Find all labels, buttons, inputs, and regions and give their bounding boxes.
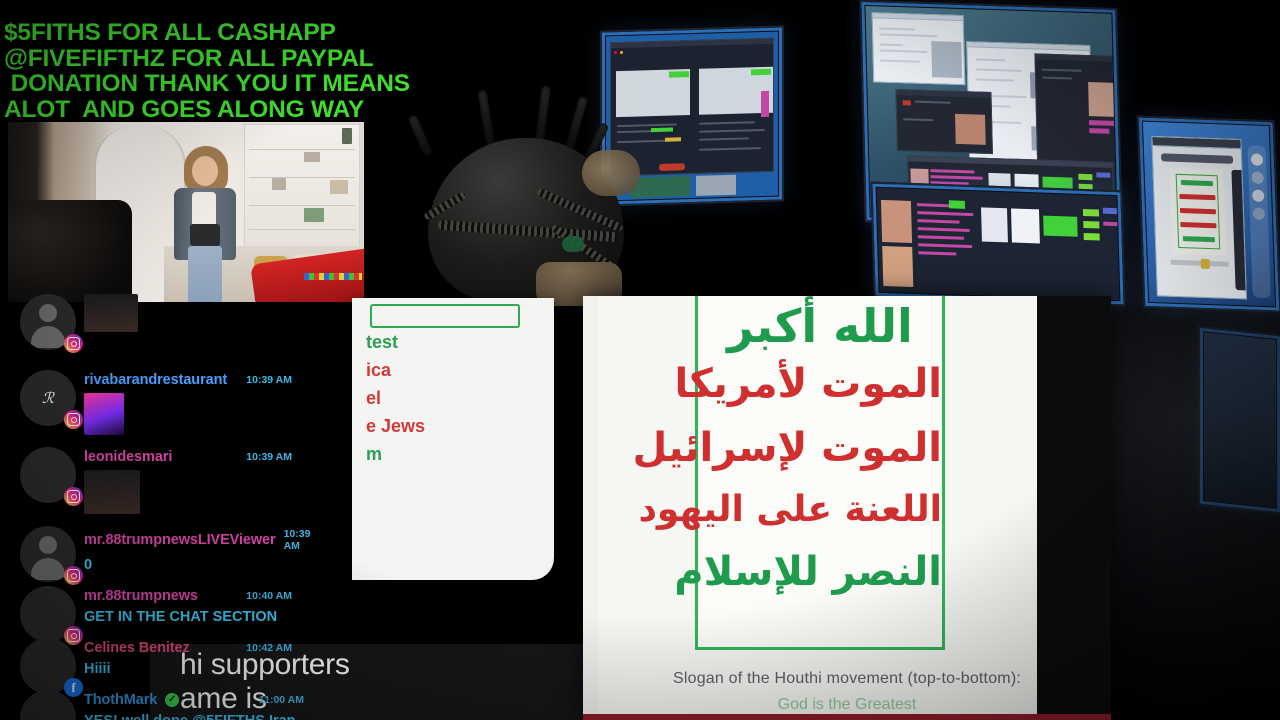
slogan-caption: Slogan of the Houthi movement (top-to-bo… [583,670,1111,714]
slogan-panel-right-margin [1037,296,1111,720]
arabic-line-5: النصر للإسلام [698,549,942,595]
chat-message[interactable]: mr.88trumpnewsLIVEViewer 10:39 AM 0 [14,522,364,582]
livestream-screenshot: test ica el e Jews m hi supporters ame i… [0,0,1280,720]
message-attachment[interactable] [84,470,140,514]
translation-line-1: test [366,332,398,353]
houthi-slogan-panel: الله أكبر الموت لأمريكا الموت لإسرائيل ا… [583,296,1111,720]
slogan-panel-bottom-strip [583,714,1111,720]
message-attachment[interactable] [84,393,124,435]
arabic-line-4: اللعنة على اليهود [698,489,942,530]
instagram-icon [64,334,83,353]
chat-message[interactable]: ℛ rivabarandrestaurant 10:39 AM [14,366,364,443]
chat-username[interactable]: ThothMark [84,692,157,708]
chat-timestamp: 10:39 AM [246,451,364,463]
monitor-screen [877,188,1120,301]
chat-message[interactable]: f Celines Benitez 10:42 AM Hiiii [14,634,364,686]
monitor-screen [1204,332,1276,508]
chat-timestamp: 10:42 AM [246,642,364,654]
slogan-caption-line-1: Slogan of the Houthi movement (top-to-bo… [583,670,1111,688]
monitor-far-right [1198,326,1280,515]
instagram-icon [64,487,83,506]
translation-card: test ica el e Jews m [352,298,554,580]
slogan-caption-line-2: God is the Greatest [583,696,1111,714]
chat-timestamp: 11:00 AM [259,694,364,706]
verified-badge-icon: ✓ [165,693,179,707]
slogan-poster-frame: الله أكبر الموت لأمريكا الموت لإسرائيل ا… [695,296,945,650]
translation-line-2: ica [366,360,391,381]
chat-overlay[interactable]: ℛ rivabarandrestaurant 10:39 AM leonides… [14,278,364,720]
chat-timestamp: 10:40 AM [246,590,364,602]
chat-username[interactable]: leonidesmari [84,449,172,465]
chat-message[interactable] [14,294,364,366]
monitor-chat-strip [870,182,1125,307]
arabic-line-3: الموت لإسرائيل [698,425,942,471]
chat-message[interactable]: leonidesmari 10:39 AM [14,443,364,522]
chat-message-text: YES! well done @5FIFTHS Iran bringing ba… [84,713,352,720]
chat-username[interactable]: Celines Benitez [84,640,190,656]
translation-card-frame [370,304,520,328]
instagram-icon [64,410,83,429]
chat-username[interactable]: rivabarandrestaurant [84,372,227,388]
chat-message[interactable]: mr.88trumpnews 10:40 AM GET IN THE CHAT … [14,582,364,634]
donation-overlay-text: $5FITHS FOR ALL CASHAPP @FIVEFIFTHZ FOR … [4,20,474,122]
arabic-line-2: الموت لأمريكا [698,361,942,407]
monitor-slogan-mirror [1137,115,1280,312]
message-attachment[interactable] [84,294,138,332]
arabic-line-1: الله أكبر [698,299,942,353]
chat-username[interactable]: mr.88trumpnewsLIVEViewer [84,532,276,548]
chat-username[interactable]: mr.88trumpnews [84,588,198,604]
chat-timestamp: 10:39 AM [246,374,364,386]
chat-message-text: 0 [84,557,352,574]
monitor-screen [1143,122,1275,307]
translation-line-4: e Jews [366,416,425,437]
chat-message-text: Hiiii [84,661,352,678]
translation-line-3: el [366,388,381,409]
chat-timestamp: 10:39 AM [284,528,364,552]
avatar [20,690,76,720]
chat-message[interactable]: ThothMark ✓ 11:00 AM YES! well done @5FI… [14,686,364,720]
video-feed-left [8,122,364,302]
translation-line-5: m [366,444,382,465]
chat-message-text: GET IN THE CHAT SECTION [84,609,352,626]
